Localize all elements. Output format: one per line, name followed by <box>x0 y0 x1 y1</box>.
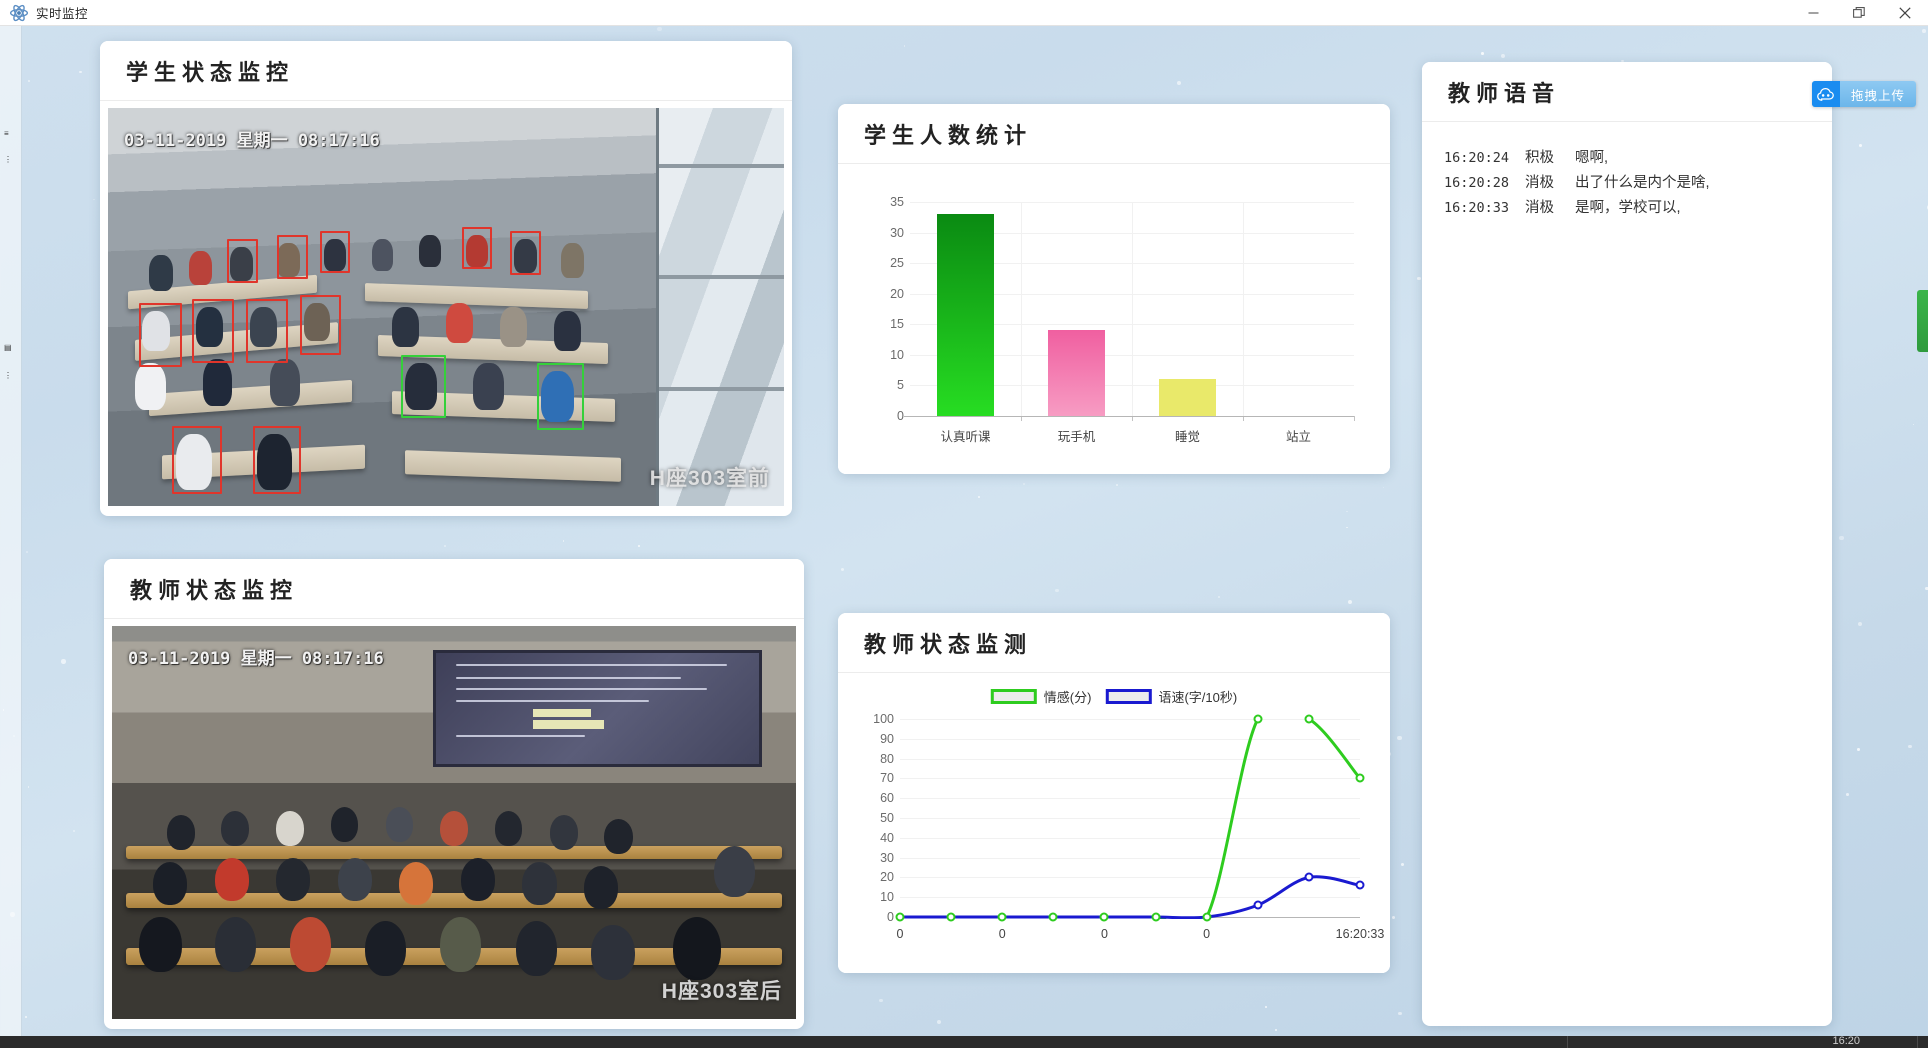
line-data-point[interactable] <box>1253 901 1262 910</box>
line-x-axis-tick: 0 <box>1101 927 1108 941</box>
line-x-axis-tick: 0 <box>999 927 1006 941</box>
taskbar-clock: 16:20 <box>1832 1035 1860 1047</box>
legend-label: 语速(字/10秒) <box>1158 687 1237 706</box>
bar-chart-plot-area: 05101520253035认真听课玩手机睡觉站立 <box>910 202 1354 416</box>
line-chart-header: 教师状态监测 <box>838 613 1390 673</box>
bar-y-axis-tick: 15 <box>890 317 904 331</box>
line-series-path-1 <box>900 877 1360 918</box>
bar-y-axis-tick: 20 <box>890 287 904 301</box>
student-video-timestamp: 03-11-2019 星期一 08:17:16 <box>124 126 380 151</box>
bar-y-axis-tick: 10 <box>890 348 904 362</box>
line-data-point[interactable] <box>1202 913 1211 922</box>
line-y-axis-tick: 100 <box>873 712 894 726</box>
window-title-bar: 实时监控 <box>0 0 1928 26</box>
maximize-restore-button[interactable] <box>1836 0 1882 26</box>
teacher-video-location-watermark: H座303室后 <box>662 975 782 1005</box>
line-y-axis-tick: 30 <box>880 851 894 865</box>
line-data-point[interactable] <box>1049 913 1058 922</box>
line-data-point[interactable] <box>1356 774 1365 783</box>
voice-header: 教师语音 <box>1422 62 1832 122</box>
student-classroom-scene <box>108 108 784 506</box>
teacher-video-timestamp: 03-11-2019 星期一 08:17:16 <box>128 644 384 669</box>
line-y-axis-tick: 60 <box>880 791 894 805</box>
teacher-state-chart-card: 教师状态监测 情感(分)语速(字/10秒) 010203040506070809… <box>838 613 1390 973</box>
legend-label: 情感(分) <box>1044 687 1092 706</box>
student-status-monitor-card: 学生状态监控 <box>100 41 792 516</box>
student-video-location-watermark: H座303室前 <box>650 462 770 492</box>
bar-x-axis-tick: 玩手机 <box>1058 426 1096 445</box>
bar-axis-tickmark <box>1354 416 1355 421</box>
teacher-monitor-title: 教师状态监控 <box>130 573 298 605</box>
teacher-voice-card: 教师语音 16:20:24积极嗯啊,16:20:28消极出了什么是内个是啥,16… <box>1422 62 1832 1026</box>
voice-title: 教师语音 <box>1448 76 1560 108</box>
bar-y-axis-tick: 5 <box>897 378 904 392</box>
line-y-axis-tick: 50 <box>880 811 894 825</box>
voice-log-sentiment: 消极 <box>1525 196 1559 221</box>
legend-item-0[interactable]: 情感(分) <box>991 687 1092 706</box>
voice-log-sentiment: 消极 <box>1525 171 1559 196</box>
student-monitor-header: 学生状态监控 <box>100 41 792 101</box>
side-drawer-handle[interactable] <box>1917 290 1928 352</box>
bar-x-axis-tick: 站立 <box>1286 426 1311 445</box>
upload-button-label: 拖拽上传 <box>1840 85 1916 104</box>
line-data-point[interactable] <box>947 913 956 922</box>
line-data-point[interactable] <box>1100 913 1109 922</box>
bar-玩手机[interactable] <box>1048 330 1106 416</box>
voice-log-sentiment: 积极 <box>1525 146 1559 171</box>
teacher-classroom-scene <box>112 626 796 1019</box>
window-title: 实时监控 <box>36 3 88 22</box>
teacher-status-monitor-card: 教师状态监控 <box>104 559 804 1029</box>
bar-chart-title: 学生人数统计 <box>864 118 1032 150</box>
voice-log-time: 16:20:28 <box>1444 171 1509 196</box>
classroom-window-wall <box>656 108 784 506</box>
voice-log-row[interactable]: 16:20:28消极出了什么是内个是啥, <box>1444 171 1810 196</box>
bar-category-separator <box>1021 202 1022 416</box>
os-taskbar: 16:20 <box>0 1036 1928 1048</box>
line-data-point[interactable] <box>896 913 905 922</box>
voice-log-row[interactable]: 16:20:33消极是啊，学校可以, <box>1444 196 1810 221</box>
app-icon <box>9 3 29 23</box>
line-y-axis-tick: 80 <box>880 752 894 766</box>
bar-x-axis-line <box>904 416 1354 417</box>
student-monitor-title: 学生状态监控 <box>126 55 294 87</box>
background-window-edge: ≡ ⋮ ▤ ⋮ <box>0 26 22 1048</box>
student-video-feed[interactable]: 03-11-2019 星期一 08:17:16 H座303室前 <box>108 108 784 506</box>
line-y-axis-tick: 0 <box>887 910 894 924</box>
voice-log-row[interactable]: 16:20:24积极嗯啊, <box>1444 146 1810 171</box>
close-button[interactable] <box>1882 0 1928 26</box>
bar-y-axis-tick: 30 <box>890 226 904 240</box>
line-chart-title: 教师状态监测 <box>864 627 1032 659</box>
line-x-axis-tick: 0 <box>1203 927 1210 941</box>
line-y-axis-tick: 20 <box>880 870 894 884</box>
line-series-path-0 <box>900 719 1360 919</box>
projection-screen <box>433 650 761 768</box>
voice-log-text: 出了什么是内个是啥, <box>1575 171 1710 196</box>
voice-log-time: 16:20:24 <box>1444 146 1509 171</box>
line-x-axis-tick: 0 <box>897 927 904 941</box>
legend-item-1[interactable]: 语速(字/10秒) <box>1105 687 1237 706</box>
line-data-point[interactable] <box>998 913 1007 922</box>
dashboard-stage: ≡ ⋮ ▤ ⋮ 学生状态监控 <box>0 26 1928 1048</box>
bar-认真听课[interactable] <box>937 214 995 416</box>
line-y-axis-tick: 10 <box>880 890 894 904</box>
line-y-axis-tick: 40 <box>880 831 894 845</box>
line-chart-body[interactable]: 情感(分)语速(字/10秒) 0102030405060708090100000… <box>838 673 1390 973</box>
line-x-axis-tick: 16:20:33 <box>1336 927 1385 941</box>
minimize-button[interactable] <box>1790 0 1836 26</box>
bar-x-axis-tick: 睡觉 <box>1175 426 1200 445</box>
bar-category-separator <box>1243 202 1244 416</box>
legend-swatch-icon <box>991 689 1037 704</box>
teacher-video-feed[interactable]: 03-11-2019 星期一 08:17:16 H座303室后 <box>112 626 796 1019</box>
teacher-monitor-header: 教师状态监控 <box>104 559 804 619</box>
student-count-chart-card: 学生人数统计 05101520253035认真听课玩手机睡觉站立 <box>838 104 1390 474</box>
line-y-axis-tick: 90 <box>880 732 894 746</box>
bar-y-axis-tick: 35 <box>890 195 904 209</box>
voice-log-list[interactable]: 16:20:24积极嗯啊,16:20:28消极出了什么是内个是啥,16:20:3… <box>1422 122 1832 221</box>
voice-log-text: 是啊，学校可以, <box>1575 196 1681 221</box>
bar-睡觉[interactable] <box>1159 379 1217 416</box>
bar-chart-body[interactable]: 05101520253035认真听课玩手机睡觉站立 <box>838 164 1390 474</box>
drag-upload-button[interactable]: 拖拽上传 <box>1812 81 1916 107</box>
legend-swatch-icon <box>1105 689 1151 704</box>
line-data-point[interactable] <box>1304 715 1313 724</box>
bar-y-axis-tick: 0 <box>897 409 904 423</box>
line-data-point[interactable] <box>1151 913 1160 922</box>
voice-log-time: 16:20:33 <box>1444 196 1509 221</box>
bar-chart-header: 学生人数统计 <box>838 104 1390 164</box>
voice-log-text: 嗯啊, <box>1575 146 1608 171</box>
line-data-point[interactable] <box>1304 873 1313 882</box>
line-chart-series-svg <box>900 719 1360 919</box>
bar-y-axis-tick: 25 <box>890 256 904 270</box>
line-data-point[interactable] <box>1356 881 1365 890</box>
line-y-axis-tick: 70 <box>880 771 894 785</box>
line-chart-plot-area: 0102030405060708090100000016:20:33 <box>900 719 1360 917</box>
bar-x-axis-tick: 认真听课 <box>940 426 990 445</box>
baidu-netdisk-icon <box>1812 81 1840 107</box>
line-chart-legend: 情感(分)语速(字/10秒) <box>991 687 1237 706</box>
bar-category-separator <box>1132 202 1133 416</box>
line-data-point[interactable] <box>1253 715 1262 724</box>
